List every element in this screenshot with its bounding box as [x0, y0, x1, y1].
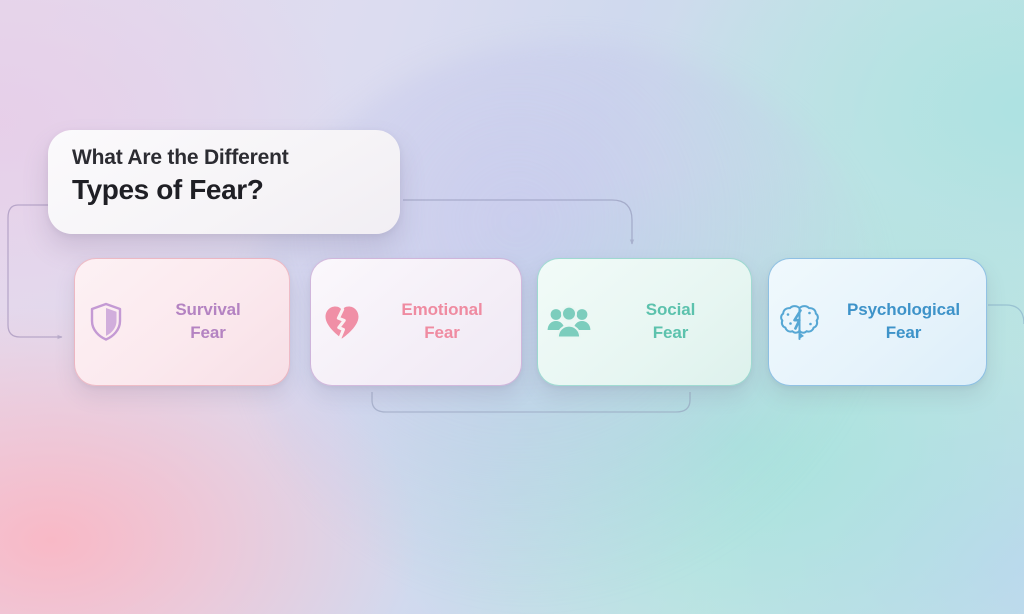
card-label-psychological-line2: Fear: [886, 323, 922, 342]
card-label-survival: Survival Fear: [137, 299, 289, 345]
card-label-social: Social Fear: [600, 299, 751, 345]
card-label-psychological-line1: Psychological: [847, 300, 960, 319]
card-label-social-line1: Social: [646, 300, 695, 319]
connector-psychological-exit: [988, 305, 1024, 324]
shield-icon: [75, 302, 137, 342]
broken-heart-icon: [311, 304, 373, 340]
card-label-emotional-line2: Fear: [424, 323, 460, 342]
page-title-line1: What Are the Different: [72, 146, 378, 170]
card-emotional-fear[interactable]: Emotional Fear: [310, 258, 522, 386]
card-label-social-line2: Fear: [653, 323, 689, 342]
card-label-survival-line1: Survival: [175, 300, 240, 319]
infographic-canvas: What Are the Different Types of Fear? Su…: [0, 0, 1024, 614]
page-title-line2: Types of Fear?: [72, 173, 378, 207]
connector-title-to-social: [403, 200, 632, 244]
card-label-survival-line2: Fear: [190, 323, 226, 342]
brain-lightning-icon: [769, 303, 831, 341]
card-label-psychological: Psychological Fear: [831, 299, 986, 345]
card-survival-fear[interactable]: Survival Fear: [74, 258, 290, 386]
people-group-icon: [538, 305, 600, 339]
card-label-emotional-line1: Emotional: [401, 300, 482, 319]
card-psychological-fear[interactable]: Psychological Fear: [768, 258, 987, 386]
connector-emotional-to-social: [372, 392, 690, 412]
card-label-emotional: Emotional Fear: [373, 299, 521, 345]
title-card: What Are the Different Types of Fear?: [48, 130, 400, 234]
card-social-fear[interactable]: Social Fear: [537, 258, 752, 386]
